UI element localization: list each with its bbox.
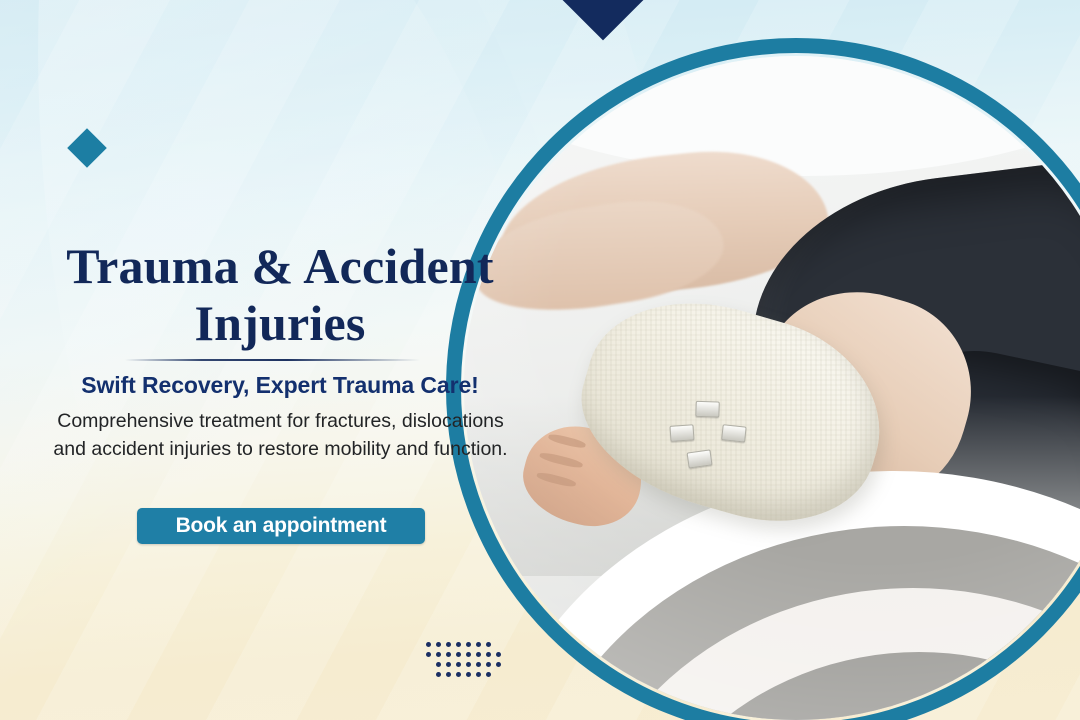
book-appointment-button[interactable]: Book an appointment: [137, 508, 425, 544]
hero-description: Comprehensive treatment for fractures, d…: [48, 408, 513, 463]
title-divider: [125, 359, 420, 361]
hero-photo-panel: [520, 0, 1080, 720]
page-title: Trauma & Accident Injuries: [20, 238, 540, 352]
hero-text-column: Trauma & Accident Injuries Swift Recover…: [0, 0, 560, 720]
hero-tagline: Swift Recovery, Expert Trauma Care!: [20, 372, 540, 399]
trauma-injuries-banner: Trauma & Accident Injuries Swift Recover…: [0, 0, 1080, 720]
